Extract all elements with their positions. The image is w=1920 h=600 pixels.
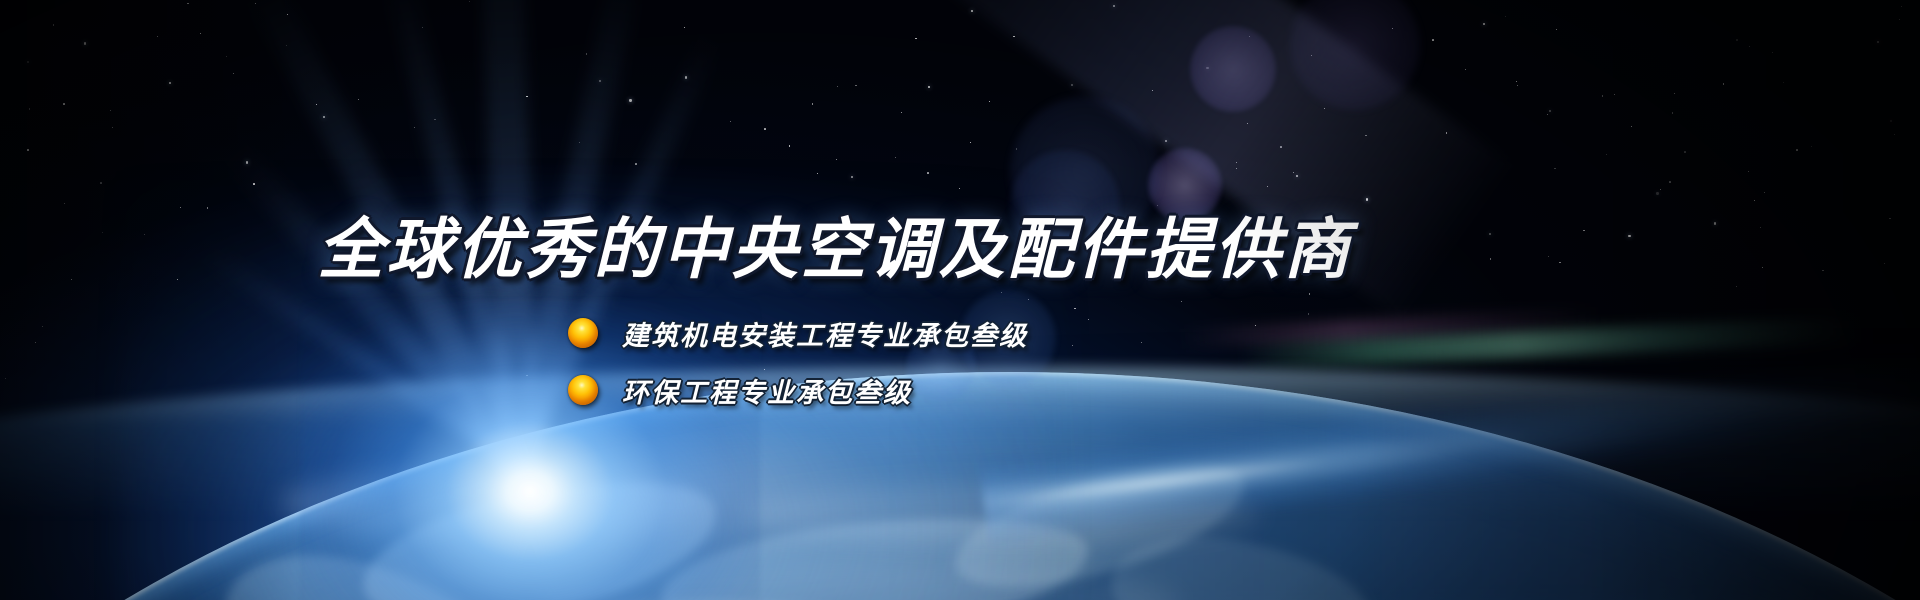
hero-banner: 全球优秀的中央空调及配件提供商 建筑机电安装工程专业承包叁级 环保工程专业承包叁… — [0, 0, 1920, 600]
bullet-sphere-icon — [568, 318, 598, 348]
banner-content: 全球优秀的中央空调及配件提供商 建筑机电安装工程专业承包叁级 环保工程专业承包叁… — [0, 0, 1920, 600]
page-title: 全球优秀的中央空调及配件提供商 — [0, 196, 1670, 292]
list-item-label: 建筑机电安装工程专业承包叁级 — [622, 314, 1028, 353]
certification-list: 建筑机电安装工程专业承包叁级 环保工程专业承包叁级 — [568, 308, 1028, 422]
list-item-label: 环保工程专业承包叁级 — [622, 371, 912, 410]
bullet-sphere-icon — [568, 375, 598, 405]
list-item: 建筑机电安装工程专业承包叁级 — [568, 308, 1028, 358]
list-item: 环保工程专业承包叁级 — [568, 365, 1028, 415]
